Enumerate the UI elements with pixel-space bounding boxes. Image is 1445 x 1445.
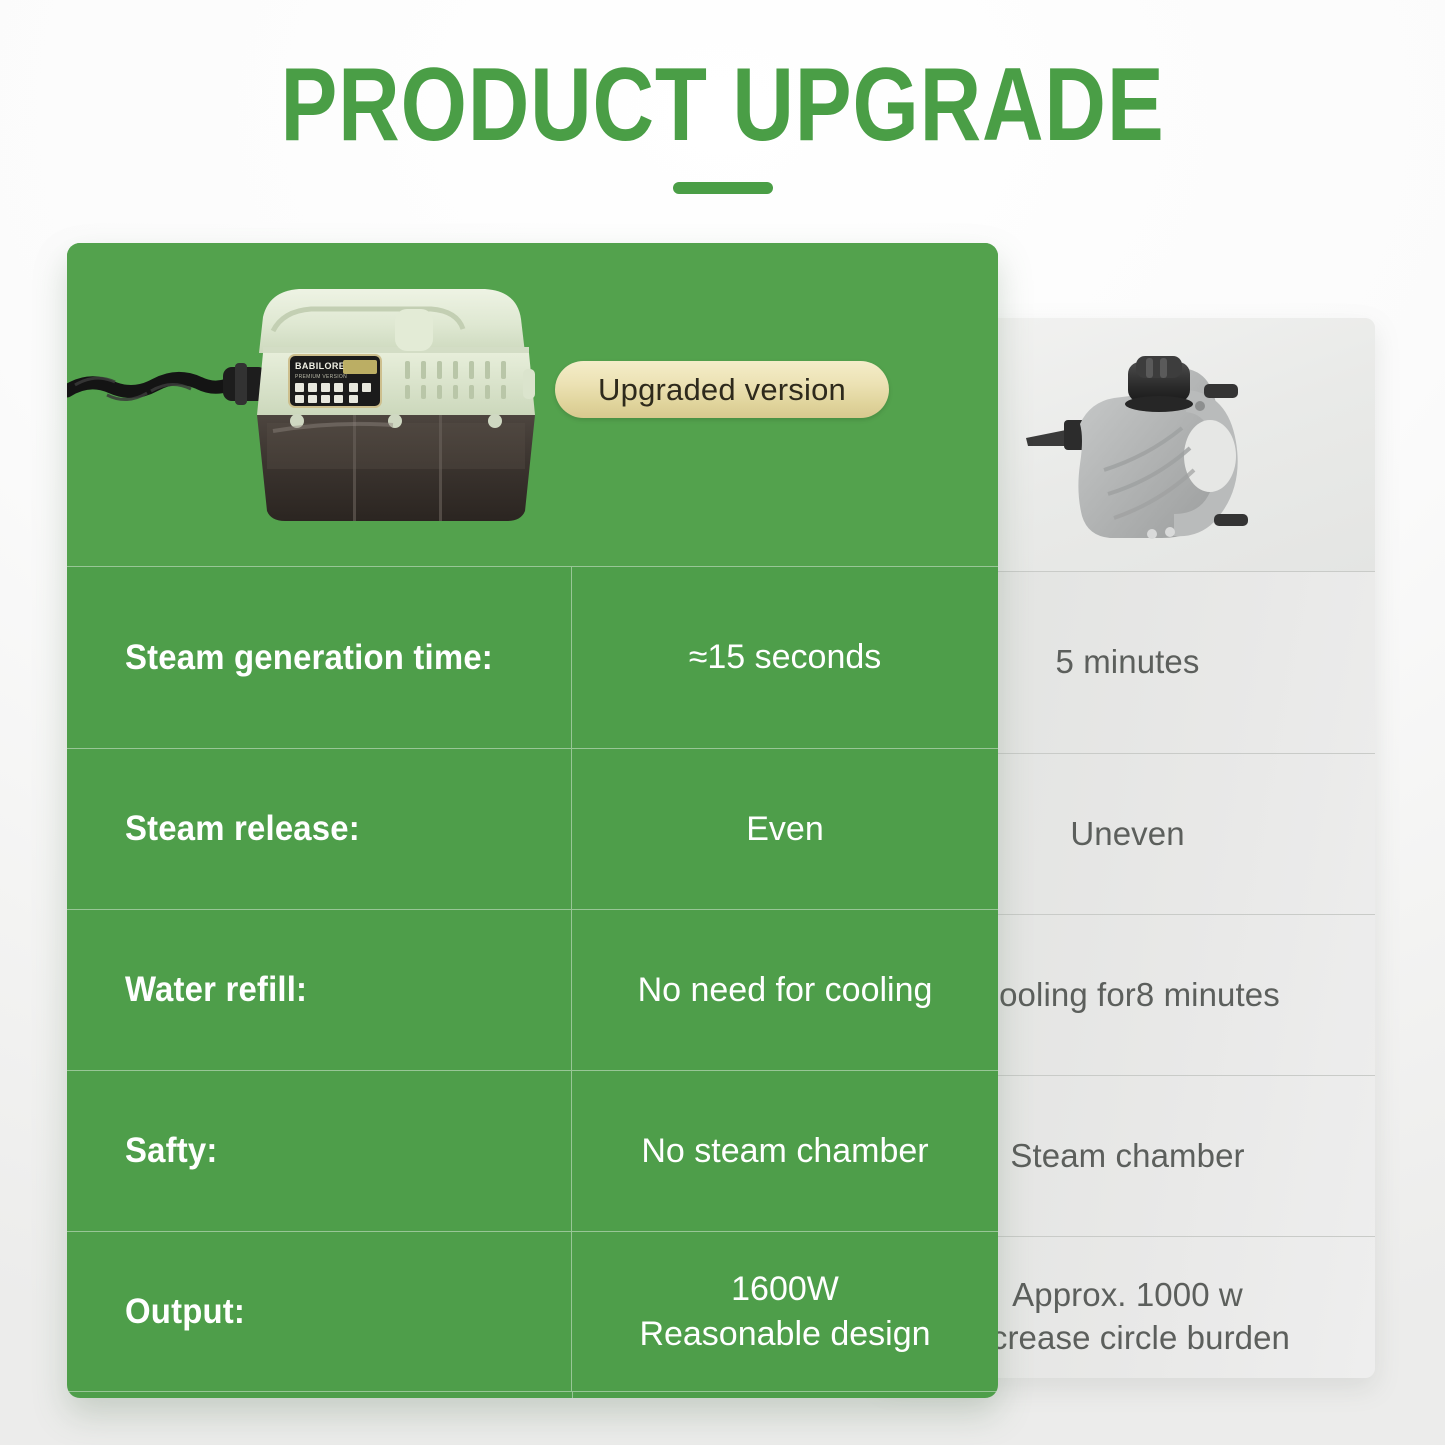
upgraded-version-badge-label: Upgraded version	[598, 372, 846, 408]
new-value-steam-generation-time: ≈15 seconds	[689, 635, 882, 679]
old-value-output-line2: increase circle burden	[965, 1319, 1290, 1356]
row-steam-generation-time: Steam generation time: ≈15 seconds	[67, 566, 998, 748]
new-value-water-refill: No need for cooling	[638, 968, 933, 1012]
upgraded-product-image-area: BABILORE PREMIUM VERSION	[67, 243, 998, 566]
value-cell-output: 1600W Reasonable design	[572, 1267, 998, 1355]
old-value-steam-generation-time: 5 minutes	[1056, 641, 1200, 683]
title-block: PRODUCT UPGRADE	[0, 52, 1445, 194]
old-value-output-line1: Approx. 1000 w	[1012, 1276, 1243, 1313]
label-cell-steam-generation-time: Steam generation time:	[67, 567, 572, 748]
label-cell-output: Output:	[67, 1232, 572, 1391]
upgraded-steam-cleaner-icon: BABILORE PREMIUM VERSION	[67, 265, 607, 545]
value-cell-safty: No steam chamber	[572, 1129, 998, 1173]
row-filler-right	[573, 1392, 998, 1398]
row-steam-release: Steam release: Even	[67, 748, 998, 909]
old-value-water-refill: Cooling for8 minutes	[975, 974, 1280, 1016]
row-label-output: Output:	[125, 1292, 245, 1332]
old-value-output: Approx. 1000 w increase circle burden	[965, 1274, 1290, 1358]
upgraded-product-value-rows: Steam generation time: ≈15 seconds Steam…	[67, 566, 998, 1398]
svg-text:PREMIUM VERSION: PREMIUM VERSION	[295, 374, 347, 380]
old-value-safty: Steam chamber	[1010, 1135, 1244, 1177]
row-filler-left	[67, 1392, 573, 1398]
infographic-page: PRODUCT UPGRADE	[0, 0, 1445, 1445]
new-value-output: 1600W Reasonable design	[639, 1267, 930, 1355]
new-value-output-line1: 1600W	[731, 1270, 839, 1308]
row-label-safty: Safty:	[125, 1131, 218, 1171]
row-output: Output: 1600W Reasonable design	[67, 1231, 998, 1391]
row-label-water-refill: Water refill:	[125, 970, 307, 1010]
old-value-steam-release: Uneven	[1070, 813, 1184, 855]
label-cell-water-refill: Water refill:	[67, 910, 572, 1070]
upgraded-product-panel: BABILORE PREMIUM VERSION	[67, 243, 998, 1398]
title-underline-accent	[673, 182, 773, 194]
row-water-refill: Water refill: No need for cooling	[67, 909, 998, 1070]
row-safty: Safty: No steam chamber	[67, 1070, 998, 1231]
label-cell-steam-release: Steam release:	[67, 749, 572, 909]
value-cell-steam-generation-time: ≈15 seconds	[572, 635, 998, 679]
row-filler	[67, 1391, 998, 1398]
value-cell-water-refill: No need for cooling	[572, 968, 998, 1012]
new-value-output-line2: Reasonable design	[639, 1315, 930, 1353]
row-label-steam-generation-time: Steam generation time:	[125, 638, 493, 678]
label-cell-safty: Safty:	[67, 1071, 572, 1231]
upgraded-version-badge: Upgraded version	[555, 361, 889, 418]
new-value-steam-release: Even	[746, 807, 824, 851]
value-cell-steam-release: Even	[572, 807, 998, 851]
svg-text:BABILORE: BABILORE	[295, 361, 345, 371]
row-label-steam-release: Steam release:	[125, 809, 360, 849]
new-value-safty: No steam chamber	[641, 1129, 928, 1173]
old-handheld-steamer-icon	[1008, 328, 1308, 568]
page-title: PRODUCT UPGRADE	[130, 52, 1315, 158]
